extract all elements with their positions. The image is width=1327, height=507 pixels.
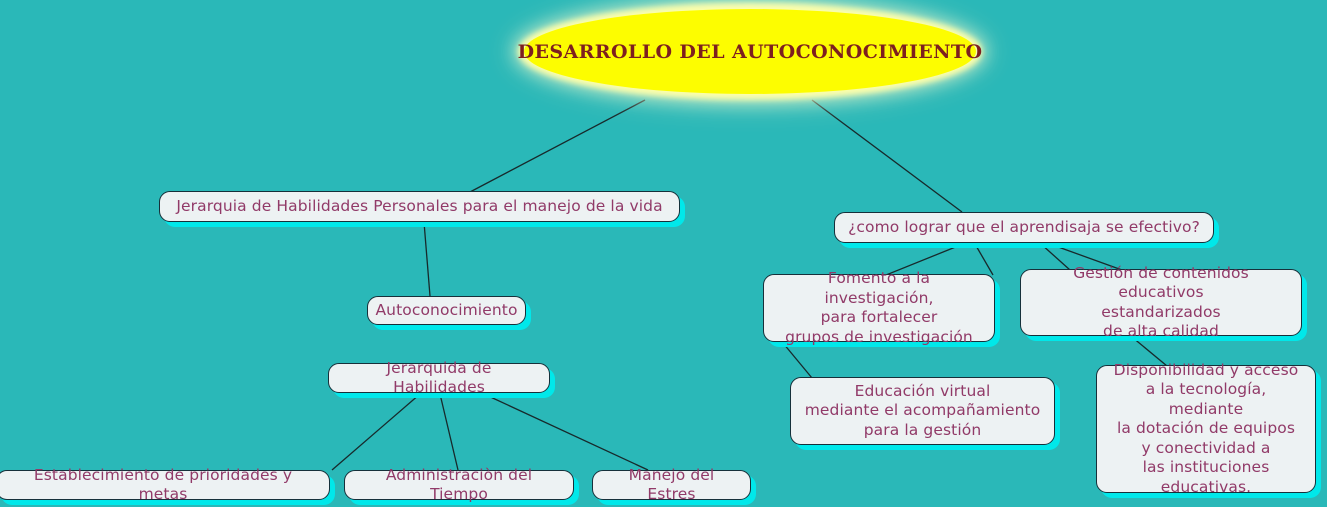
node-label: Jerarquia de Habilidades Personales para… (176, 197, 662, 217)
node-jerarquia-habilidades-personales[interactable]: Jerarquia de Habilidades Personales para… (159, 191, 680, 222)
node-label: ¿como lograr que el aprendisaja se efect… (848, 218, 1200, 238)
edge-jerarquida-to-manejo-estres (484, 394, 648, 470)
node-establecimiento-prioridades-metas[interactable]: Establecimiento de prioridades y metas (0, 470, 330, 500)
edge-jerarquida-to-establecimiento (332, 394, 420, 470)
node-label: Autoconocimiento (375, 301, 517, 321)
node-administracion-tiempo[interactable]: Administraciòn del Tiempo (344, 470, 574, 500)
node-label: Gestión de contenidos educativos estanda… (1032, 264, 1290, 342)
node-label: Educación virtual mediante el acompañami… (805, 382, 1041, 441)
node-label: Fomento a la investigación, para fortale… (775, 269, 983, 347)
node-fomento-investigacion[interactable]: Fomento a la investigación, para fortale… (763, 274, 995, 342)
node-como-lograr-aprendizaje-efectivo[interactable]: ¿como lograr que el aprendisaja se efect… (834, 212, 1214, 243)
edge-root-to-jerarquia-personales (470, 100, 645, 192)
edge-root-to-como-lograr (812, 100, 962, 212)
edge-jerarquia-personales-to-autoconocimiento (424, 222, 430, 296)
node-manejo-estres[interactable]: Manejo del Estres (592, 470, 751, 500)
node-label: Manejo del Estres (604, 466, 739, 505)
node-educacion-virtual[interactable]: Educación virtual mediante el acompañami… (790, 377, 1055, 445)
node-label: Disponibilidad y acceso a la tecnología,… (1108, 361, 1304, 498)
edge-jerarquida-to-administracion (440, 394, 458, 470)
node-jerarquida-habilidades[interactable]: Jerarquida de Habilidades (328, 363, 550, 393)
node-label: Administraciòn del Tiempo (356, 466, 562, 505)
root-node-desarrollo-del-autoconocimiento[interactable]: DESARROLLO DEL AUTOCONOCIMIENTO (524, 9, 976, 94)
node-disponibilidad-acceso-tecnologia[interactable]: Disponibilidad y acceso a la tecnología,… (1096, 365, 1316, 493)
edge-fomento-to-educacion-virtual (783, 343, 812, 378)
mindmap-canvas: DESARROLLO DEL AUTOCONOCIMIENTO Jerarqui… (0, 0, 1327, 507)
node-gestion-contenidos-educativos[interactable]: Gestión de contenidos educativos estanda… (1020, 269, 1302, 336)
node-autoconocimiento[interactable]: Autoconocimiento (367, 296, 526, 325)
node-label: Establecimiento de prioridades y metas (8, 466, 318, 505)
node-label: Jerarquida de Habilidades (340, 359, 538, 398)
root-node-label: DESARROLLO DEL AUTOCONOCIMIENTO (518, 41, 983, 63)
